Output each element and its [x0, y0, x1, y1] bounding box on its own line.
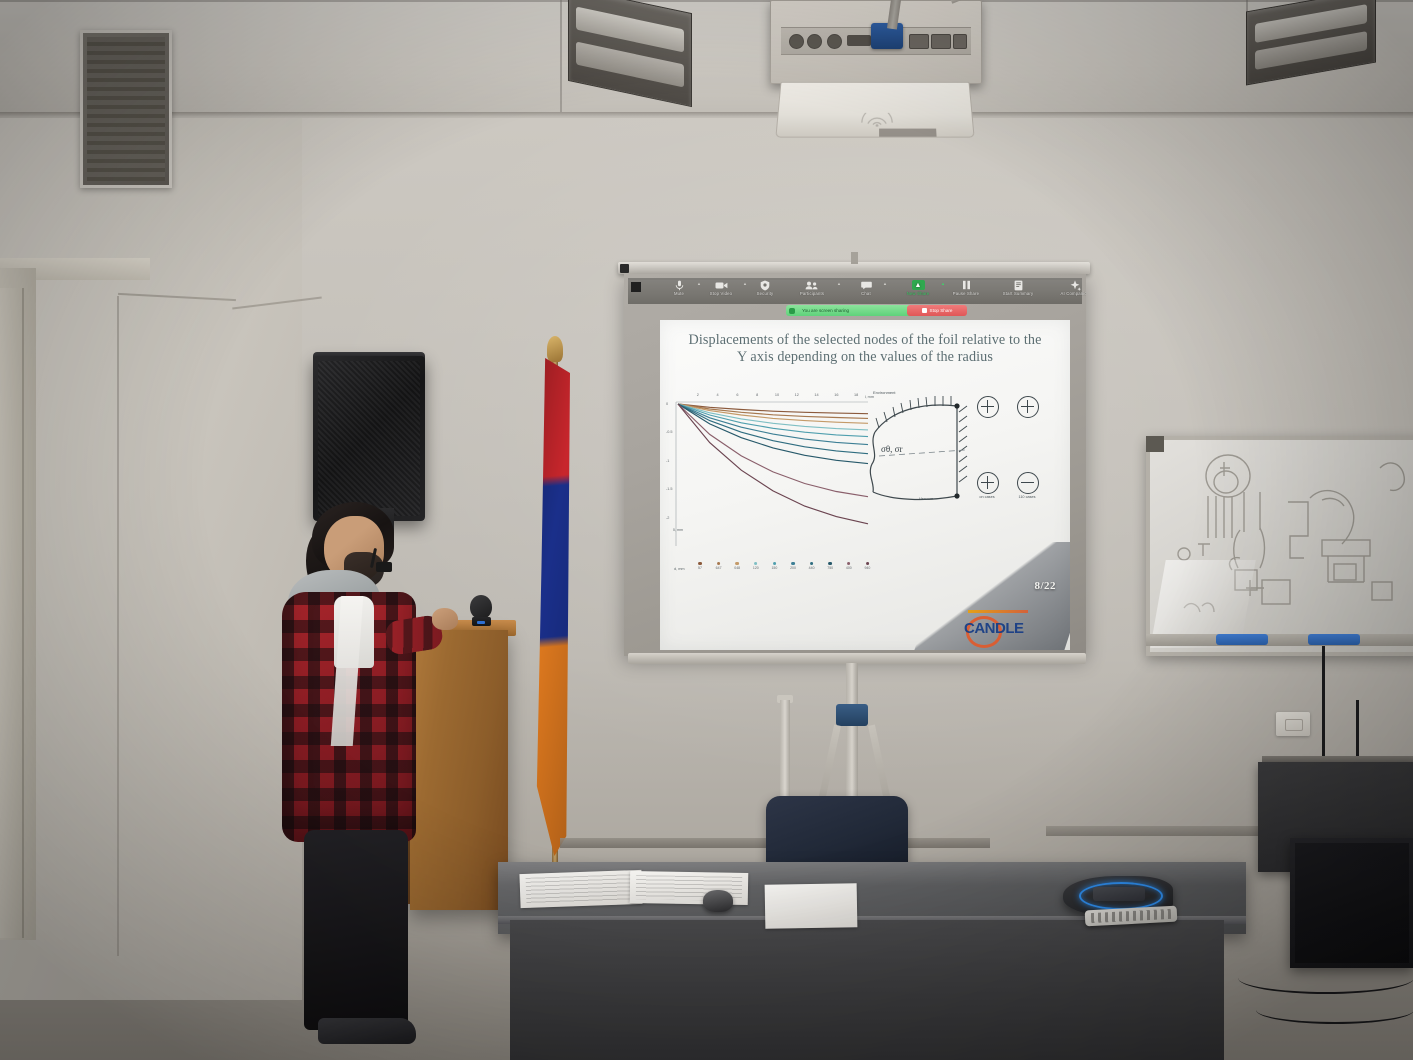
legend-marker: [810, 562, 813, 565]
stop-share-label: Stop Share: [930, 308, 953, 313]
legend-label: 400: [846, 566, 852, 570]
chart-x-tick: 16: [834, 393, 838, 397]
shield-icon: [746, 279, 784, 291]
sign-plus-top-left: [977, 396, 999, 418]
diagram-stress-label: σθ, σr: [881, 444, 903, 454]
baseboard-right: [1046, 826, 1276, 836]
legend-marker: [717, 562, 720, 565]
wall-outlet[interactable]: [1276, 712, 1310, 736]
cable-stand-left: [1322, 646, 1325, 764]
wall-speaker: [313, 356, 425, 521]
zoom-start-summary-label: Start Summary: [992, 291, 1044, 297]
chart-plot-area: [674, 400, 870, 550]
wall-vent: [80, 30, 172, 188]
zoom-new-share-button[interactable]: ▲ New Share ▲: [894, 279, 942, 297]
tripod-head: [836, 704, 868, 726]
zoom-toolbar-items: Mute ▲ Stop Video ▲ Security: [660, 279, 1078, 304]
zoom-stop-video-button[interactable]: Stop Video ▲: [698, 279, 744, 297]
legend-marker: [791, 562, 794, 565]
candle-logo-text: CANDLE: [964, 620, 1024, 637]
presenter-pants: [304, 830, 408, 1030]
monitor: [1290, 838, 1413, 968]
projector-body: [775, 82, 974, 138]
legend-marker: [773, 562, 776, 565]
legend-item: 150: [771, 562, 777, 570]
zoom-stop-video-label: Stop Video: [700, 291, 742, 297]
stop-share-button[interactable]: Stop Share: [907, 305, 967, 316]
legend-marker: [735, 562, 738, 565]
microphone-icon: [662, 279, 696, 291]
legend-marker: [847, 562, 850, 565]
zoom-chat-label: Chat: [850, 291, 882, 297]
legend-marker: [698, 562, 701, 565]
pause-icon: [944, 279, 988, 291]
chart-y-tick: 0: [666, 402, 668, 406]
diagram-top-label: Environment: [873, 390, 895, 395]
sign-plus-bottom-left: [977, 472, 999, 494]
legend-label: 200: [790, 566, 796, 570]
legend-label: 750: [827, 566, 833, 570]
ceiling-edge: [0, 112, 1413, 117]
legend-label: 440: [809, 566, 815, 570]
sharing-indicator-dot: [789, 308, 795, 314]
legend-marker: [828, 562, 831, 565]
zoom-chat-button[interactable]: Chat ▲: [848, 279, 884, 297]
zoom-window-button[interactable]: [631, 282, 641, 292]
share-screen-icon: ▲: [912, 280, 925, 290]
cable-stand-right: [1356, 700, 1359, 764]
sign-caption-left: on cases: [979, 495, 994, 499]
whiteboard-marker-right[interactable]: [1308, 634, 1360, 645]
participants-icon: [788, 279, 836, 291]
legend-item: 647: [716, 562, 722, 570]
sign-minus-bottom-right: [1017, 472, 1039, 494]
chart-x-tick: 8: [756, 393, 758, 397]
chart-y-tick: -0.5: [666, 430, 673, 434]
presenter-hand: [432, 608, 458, 630]
legend-label: 150: [771, 566, 777, 570]
legend-marker: [866, 562, 869, 565]
chevron-up-icon[interactable]: ▲: [837, 281, 841, 286]
projector-wifi-icon: [855, 113, 898, 127]
floor-cable-2: [1256, 996, 1413, 1024]
zoom-ai-companion-button[interactable]: AI Companion: [1046, 279, 1086, 297]
legend-item: 048: [734, 562, 740, 570]
whiteboard-tray: [1146, 634, 1413, 646]
chart-x-tick: 10: [775, 393, 779, 397]
legend-item: 440: [809, 562, 815, 570]
whiteboard-marker-left[interactable]: [1216, 634, 1268, 645]
screen-case-endcap: [620, 264, 629, 273]
video-camera-icon: [700, 279, 742, 291]
legend-item: 200: [790, 562, 796, 570]
podium-microphone: [468, 595, 494, 628]
legend-item: 750: [827, 562, 833, 570]
zoom-meeting-window: Mute ▲ Stop Video ▲ Security: [624, 274, 1086, 656]
sign-plus-top-right: [1017, 396, 1039, 418]
presenter: [282, 500, 432, 1060]
zoom-pause-share-button[interactable]: Pause Share: [942, 279, 990, 297]
stress-diagram: Environment Vacuum σθ, σr: [865, 392, 1055, 522]
zoom-mute-button[interactable]: Mute ▲: [660, 279, 698, 297]
chat-bubble-icon: [850, 279, 882, 291]
legend-label: 647: [716, 566, 722, 570]
legend-item: 940: [864, 562, 870, 570]
zoom-start-summary-button[interactable]: Start Summary: [990, 279, 1046, 297]
ai-sparkle-icon: [1048, 279, 1086, 291]
chart-y-tick: -1.5: [666, 487, 673, 491]
legend-item: 400: [846, 562, 852, 570]
wall-cable-drop: [117, 296, 121, 956]
stop-icon: [922, 308, 927, 313]
legend-item: 120: [753, 562, 759, 570]
chart-x-tick: 18: [854, 393, 858, 397]
ceiling: [0, 0, 1413, 118]
zoom-participants-label: Participants: [788, 291, 836, 297]
legend-title: d, mm: [674, 567, 685, 571]
legend-label: 57: [698, 566, 702, 570]
chart-y-tick: -1: [666, 459, 669, 463]
projector-nameplate: [879, 129, 937, 137]
diagram-bottom-label: Vacuum: [919, 496, 933, 501]
chart-y-axis-label: δ, mm: [673, 528, 683, 532]
legend-marker: [754, 562, 757, 565]
speakerphone-control-panel[interactable]: [1093, 887, 1145, 901]
presentation-slide: Displacements of the selected nodes of t…: [660, 320, 1070, 650]
zoom-participants-button[interactable]: Participants ▲: [786, 279, 838, 297]
zoom-new-share-label: New Share: [896, 291, 940, 297]
paper-document-left: [519, 870, 642, 908]
sharing-status-text: You are screen sharing: [802, 308, 849, 313]
summary-doc-icon: [992, 279, 1044, 291]
whiteboard: [1146, 436, 1413, 656]
chart-x-tick: 6: [736, 393, 738, 397]
computer-mouse[interactable]: [703, 890, 733, 912]
zoom-security-button[interactable]: Security: [744, 279, 786, 297]
legend-label: 940: [864, 566, 870, 570]
zoom-pause-share-label: Pause Share: [944, 291, 988, 297]
conference-table-front: [510, 920, 1224, 1060]
zoom-security-label: Security: [746, 291, 784, 297]
chart-y-tick: -2: [666, 516, 669, 520]
chart-x-tick: 14: [814, 393, 818, 397]
candle-logo: CANDLE: [960, 604, 1064, 644]
zoom-mute-label: Mute: [662, 291, 696, 297]
chart-x-tick: 12: [795, 393, 799, 397]
screen-bracket: [851, 252, 858, 264]
chart-x-tick: 2: [697, 393, 699, 397]
door[interactable]: [0, 288, 24, 938]
chart-x-tick: 4: [717, 393, 719, 397]
sign-caption-right: 110 cases: [1018, 495, 1035, 499]
headset-microphone: [376, 562, 392, 572]
slide-title: Displacements of the selected nodes of t…: [682, 332, 1048, 366]
slide-page-number: 8/22: [1034, 580, 1056, 592]
legend-label: 120: [753, 566, 759, 570]
legend-item: 57: [698, 562, 702, 570]
displacement-line-chart: l, mm δ, mm 24681012141618 0-0.5-1-1.5-2: [674, 400, 870, 550]
zoom-ai-companion-label: AI Companion: [1048, 291, 1086, 297]
paper-blank-sheet: [765, 883, 858, 929]
chart-legend: d, mm 57647048120150200440750400940: [674, 558, 870, 580]
conference-room-photo: Mute ▲ Stop Video ▲ Security: [0, 0, 1413, 1060]
legend-label: 048: [734, 566, 740, 570]
presenter-shoe: [318, 1018, 416, 1044]
chevron-up-icon[interactable]: ▲: [883, 281, 887, 286]
flag-finial: [547, 336, 563, 362]
projection-screen: Mute ▲ Stop Video ▲ Security: [624, 274, 1086, 656]
projector: [770, 0, 982, 84]
floor-cable-1: [1238, 962, 1413, 994]
whiteboard-corner-bracket: [1146, 436, 1164, 452]
